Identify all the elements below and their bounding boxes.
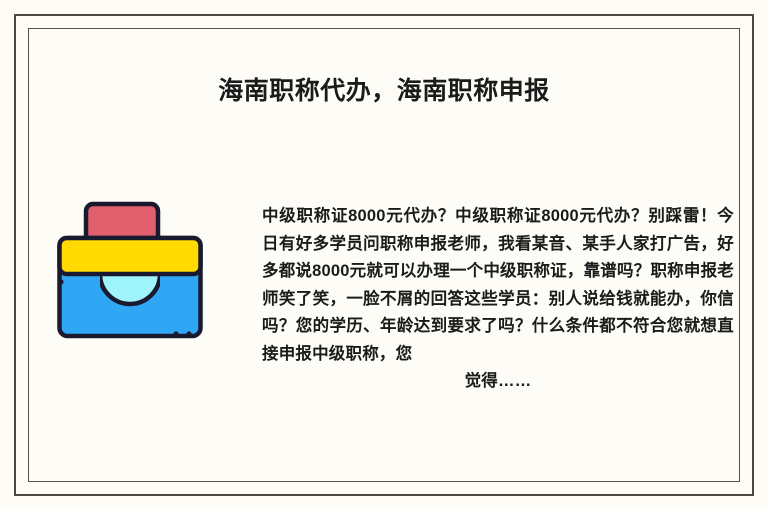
article-body: 中级职称证8000元代办？中级职称证8000元代办？别踩雷！今日有好多学员问职称… (262, 203, 734, 396)
article-body-paragraph: 中级职称证8000元代办？中级职称证8000元代办？别踩雷！今日有好多学员问职称… (262, 203, 734, 396)
page-title: 海南职称代办，海南职称申报 (28, 74, 740, 108)
article-body-tail: 觉得…… (262, 368, 734, 396)
illustration-band (60, 238, 201, 274)
illustration-dot-right-b (186, 331, 191, 336)
illustration-dot-right-a (173, 331, 178, 336)
page-canvas: 海南职称代办，海南职称申报 中级职称证8000元代办？中级职称证8000元代办 (0, 0, 768, 510)
article-body-main: 中级职称证8000元代办？中级职称证8000元代办？别踩雷！今日有好多学员问职称… (262, 207, 734, 363)
briefcase-box-illustration (56, 196, 204, 342)
illustration-dot-left (58, 279, 63, 284)
